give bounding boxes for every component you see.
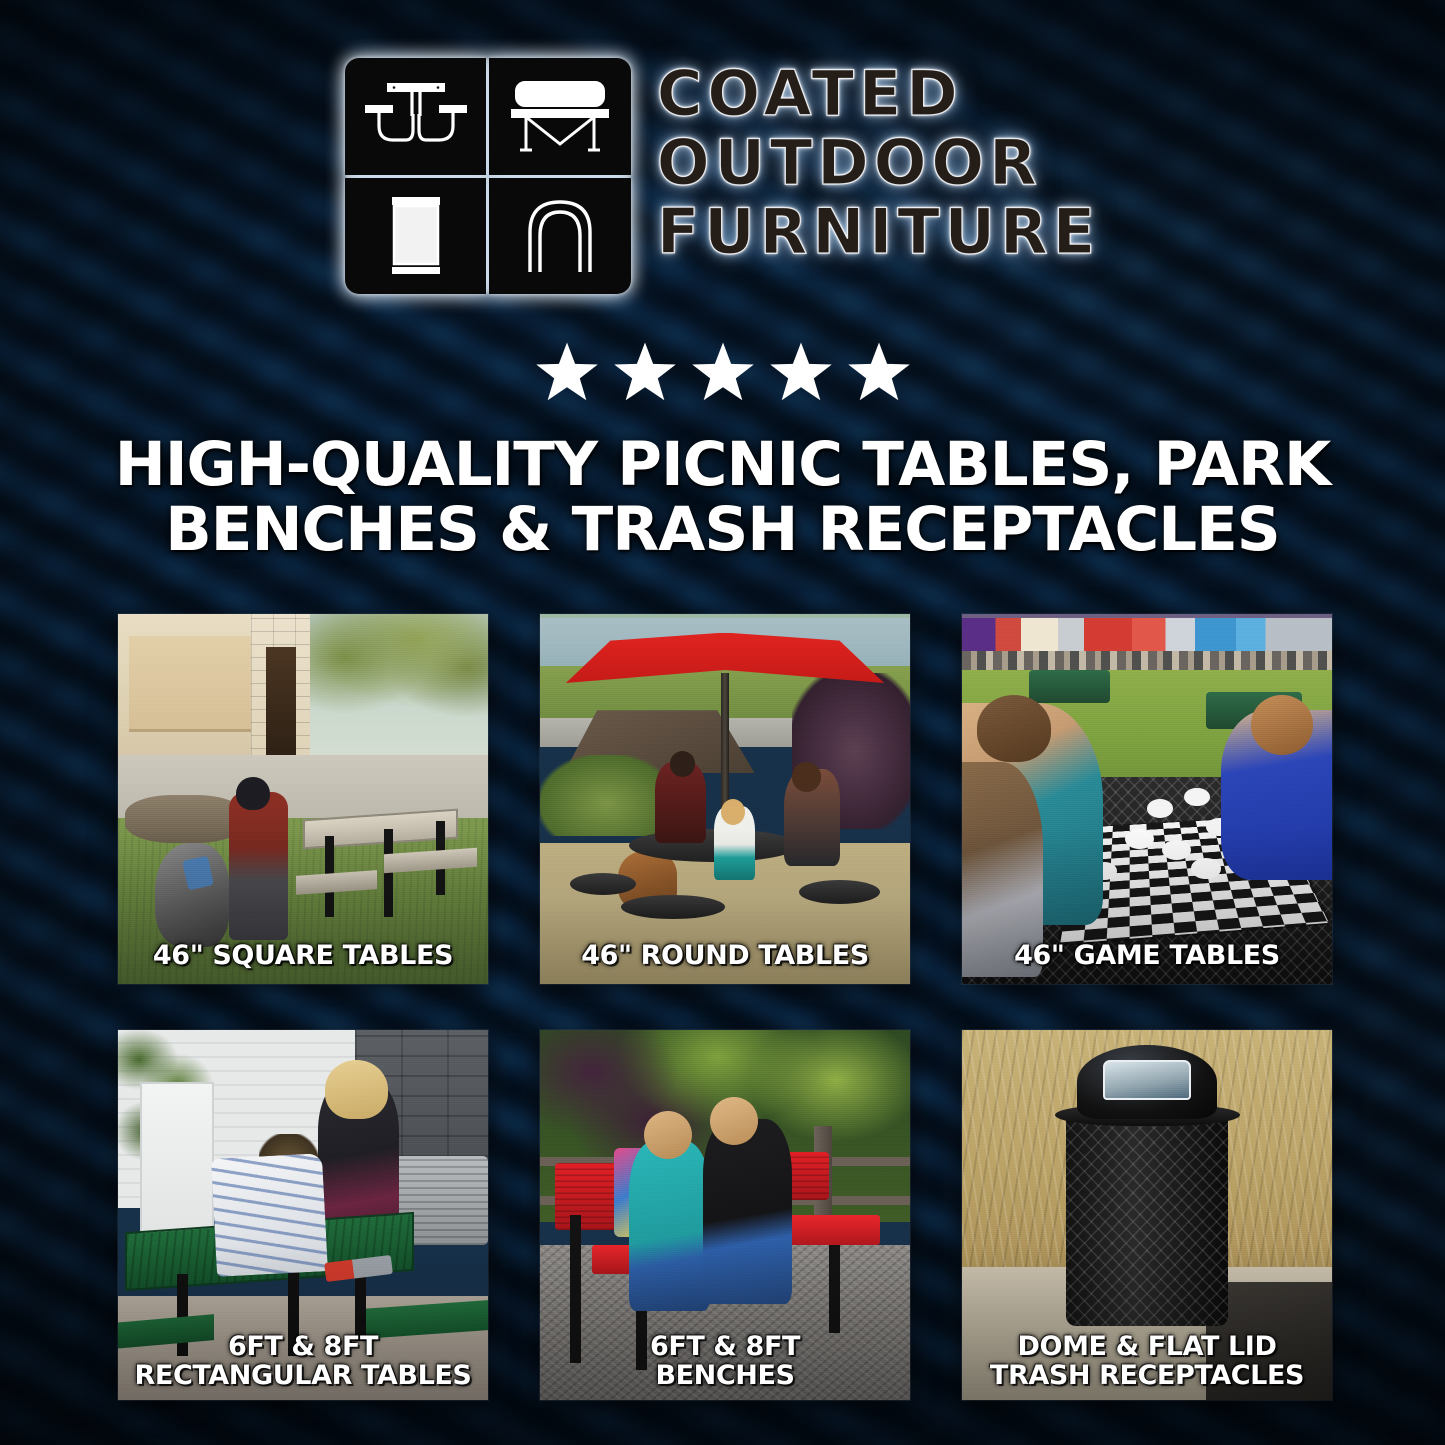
caption-line-1: 6FT & 8FT <box>546 1333 904 1361</box>
round-tables-photo <box>540 614 910 984</box>
product-card-round-tables[interactable]: 46" ROUND TABLES <box>540 614 910 984</box>
logo-icon-grid <box>345 58 631 294</box>
star-rating <box>0 341 1445 403</box>
caption-line-1: 46" GAME TABLES <box>968 942 1326 970</box>
product-card-benches[interactable]: 6FT & 8FT BENCHES <box>540 1030 910 1400</box>
picnic-table-icon <box>345 58 487 175</box>
star-icon <box>613 341 677 403</box>
product-caption: 6FT & 8FT BENCHES <box>540 1333 910 1390</box>
caption-line-2: TRASH RECEPTACLES <box>968 1362 1326 1390</box>
brand-word-outdoor: OUTDOOR <box>657 129 1042 198</box>
park-bench-icon <box>489 58 631 175</box>
trash-receptacle-icon <box>345 178 487 295</box>
product-card-rectangular-tables[interactable]: 6FT & 8FT RECTANGULAR TABLES <box>118 1030 488 1400</box>
product-card-game-tables[interactable]: 46" GAME TABLES <box>962 614 1332 984</box>
product-category-grid: 46" SQUARE TABLES <box>118 614 1334 1400</box>
product-caption: 46" SQUARE TABLES <box>118 942 488 970</box>
star-icon <box>535 341 599 403</box>
product-caption: DOME & FLAT LID TRASH RECEPTACLES <box>962 1333 1332 1390</box>
product-caption: 46" ROUND TABLES <box>540 942 910 970</box>
arch-bike-rack-icon <box>489 178 631 295</box>
headline-line-1: HIGH-QUALITY PICNIC TABLES, PARK <box>70 433 1375 496</box>
product-card-square-tables[interactable]: 46" SQUARE TABLES <box>118 614 488 984</box>
caption-line-1: 46" SQUARE TABLES <box>124 942 482 970</box>
promo-poster: COATED OUTDOOR FURNITURE HIGH-QUALITY PI… <box>0 0 1445 1445</box>
product-card-trash-receptacles[interactable]: DOME & FLAT LID TRASH RECEPTACLES <box>962 1030 1332 1400</box>
caption-line-1: 46" ROUND TABLES <box>546 942 904 970</box>
caption-line-1: 6FT & 8FT <box>124 1333 482 1361</box>
product-caption: 6FT & 8FT RECTANGULAR TABLES <box>118 1333 488 1390</box>
square-tables-photo <box>118 614 488 984</box>
headline-line-2: BENCHES & TRASH RECEPTACLES <box>70 498 1375 561</box>
star-icon <box>691 341 755 403</box>
page-title: HIGH-QUALITY PICNIC TABLES, PARK BENCHES… <box>0 433 1445 562</box>
caption-line-2: BENCHES <box>546 1362 904 1390</box>
brand-logo[interactable]: COATED OUTDOOR FURNITURE <box>0 58 1445 294</box>
brand-word-coated: COATED <box>657 60 963 129</box>
caption-line-1: DOME & FLAT LID <box>968 1333 1326 1361</box>
brand-word-furniture: FURNITURE <box>657 198 1100 267</box>
star-icon <box>847 341 911 403</box>
game-tables-photo <box>962 614 1332 984</box>
brand-wordmark: COATED OUTDOOR FURNITURE <box>657 58 1100 266</box>
product-caption: 46" GAME TABLES <box>962 942 1332 970</box>
star-icon <box>769 341 833 403</box>
caption-line-2: RECTANGULAR TABLES <box>124 1362 482 1390</box>
